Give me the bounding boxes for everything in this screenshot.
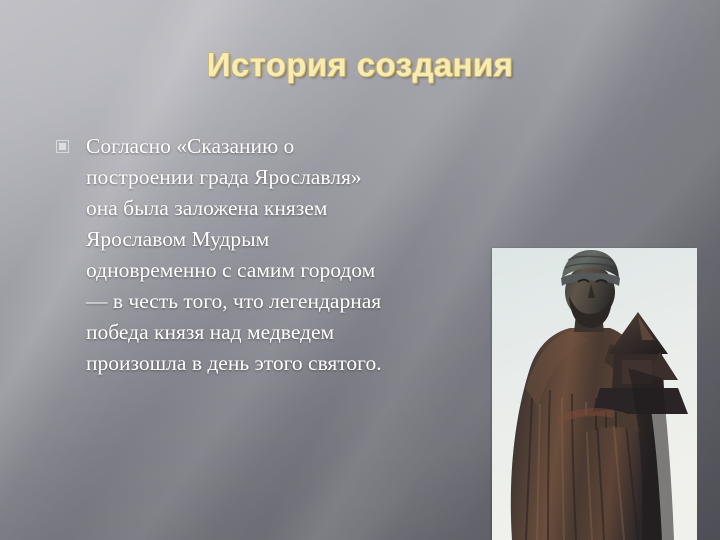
bullet-paragraph: Согласно «Сказанию о построении града Яр… <box>86 131 476 379</box>
slide-title: История создания <box>0 46 720 84</box>
body-line: построении града Ярославля» <box>86 162 476 193</box>
body-line: — в честь того, что легендарная <box>86 286 476 317</box>
body-line: Ярославом Мудрым <box>86 224 476 255</box>
presentation-slide: История создания Согласно «Сказанию о по… <box>0 0 720 540</box>
body-line: победа князя над медведем <box>86 317 476 348</box>
body-line: Согласно «Сказанию о <box>86 131 476 162</box>
body-line: произошла в день этого святого. <box>86 348 476 379</box>
square-bullet-icon <box>56 140 69 153</box>
slide-body: Согласно «Сказанию о построении града Яр… <box>56 131 476 379</box>
statue-photo <box>492 248 697 540</box>
bullet-list-item: Согласно «Сказанию о построении града Яр… <box>56 131 476 379</box>
body-line: одновременно с самим городом <box>86 255 476 286</box>
body-line: она была заложена князем <box>86 193 476 224</box>
statue-illustration <box>492 248 697 540</box>
